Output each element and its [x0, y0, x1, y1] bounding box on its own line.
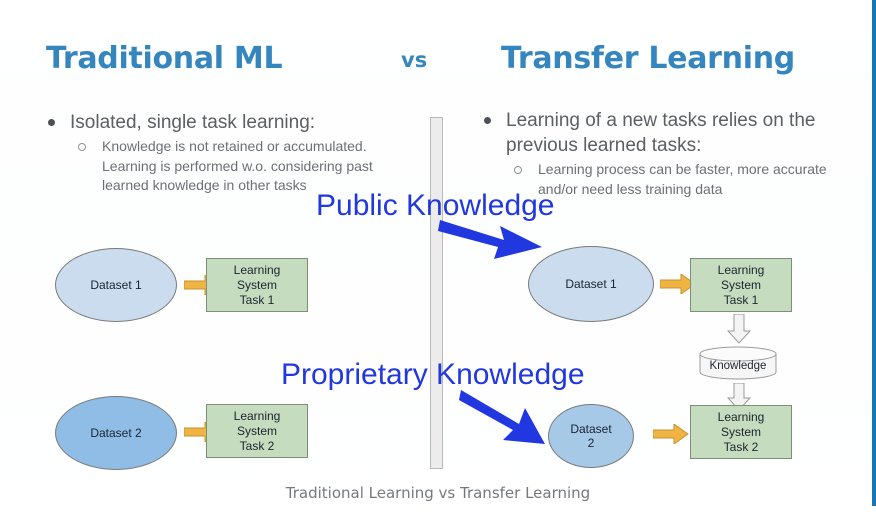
- proprietary-knowledge-arrow-icon: [459, 388, 551, 448]
- right-arrow-2-icon: [653, 424, 689, 444]
- left-system-2-box: Learning System Task 2: [206, 404, 308, 458]
- annotation-proprietary-knowledge: Proprietary Knowledge: [281, 358, 585, 392]
- right-system-2-box: Learning System Task 2: [690, 405, 792, 459]
- right-dataset-1-label: Dataset 1: [565, 277, 616, 291]
- page-title-left: Traditional ML: [46, 41, 282, 76]
- right-system-1-label: Learning System Task 1: [718, 263, 765, 308]
- right-system-2-label: Learning System Task 2: [718, 410, 765, 455]
- left-bullet-sub-text: Knowledge is not retained or accumulated…: [102, 138, 373, 193]
- right-edge-rule: [872, 0, 876, 506]
- left-dataset-2-ellipse: Dataset 2: [55, 396, 177, 470]
- knowledge-cylinder: Knowledge: [699, 346, 777, 380]
- right-bullet-main: Learning of a new tasks relies on the pr…: [472, 108, 862, 158]
- public-knowledge-arrow-icon: [438, 214, 548, 266]
- left-dataset-2-label: Dataset 2: [90, 426, 141, 440]
- right-bullet-main-text: Learning of a new tasks relies on the pr…: [506, 110, 815, 156]
- right-bullet-list: Learning of a new tasks relies on the pr…: [472, 108, 862, 199]
- center-divider: [430, 117, 443, 469]
- figure-caption: Traditional Learning vs Transfer Learnin…: [0, 484, 876, 502]
- right-dataset-2-ellipse: Dataset 2: [548, 404, 634, 468]
- bullet-ring-icon: [78, 143, 86, 151]
- page-title-vs: vs: [401, 48, 427, 72]
- left-system-2-label: Learning System Task 2: [234, 409, 281, 454]
- left-system-1-box: Learning System Task 1: [206, 258, 308, 312]
- right-bullet-sub-text: Learning process can be faster, more acc…: [538, 161, 827, 197]
- right-dataset-2-label: Dataset 2: [570, 422, 611, 450]
- left-system-1-label: Learning System Task 1: [234, 263, 281, 308]
- left-bullet-main: Isolated, single task learning:: [36, 110, 406, 135]
- bullet-dot-icon: [484, 117, 491, 124]
- page-title-right: Transfer Learning: [501, 41, 795, 76]
- left-bullet-sub: Knowledge is not retained or accumulated…: [36, 137, 406, 196]
- left-bullet-list: Isolated, single task learning: Knowledg…: [36, 110, 406, 196]
- slide-canvas: Traditional ML vs Transfer Learning Isol…: [0, 0, 876, 527]
- left-dataset-1-ellipse: Dataset 1: [55, 248, 177, 322]
- bullet-dot-icon: [48, 119, 55, 126]
- knowledge-label: Knowledge: [710, 355, 767, 372]
- left-dataset-1-label: Dataset 1: [90, 278, 141, 292]
- left-bullet-main-text: Isolated, single task learning:: [70, 112, 315, 133]
- right-system-1-box: Learning System Task 1: [690, 258, 792, 312]
- bullet-ring-icon: [514, 166, 522, 174]
- down-arrow-to-knowledge-icon: [727, 314, 751, 344]
